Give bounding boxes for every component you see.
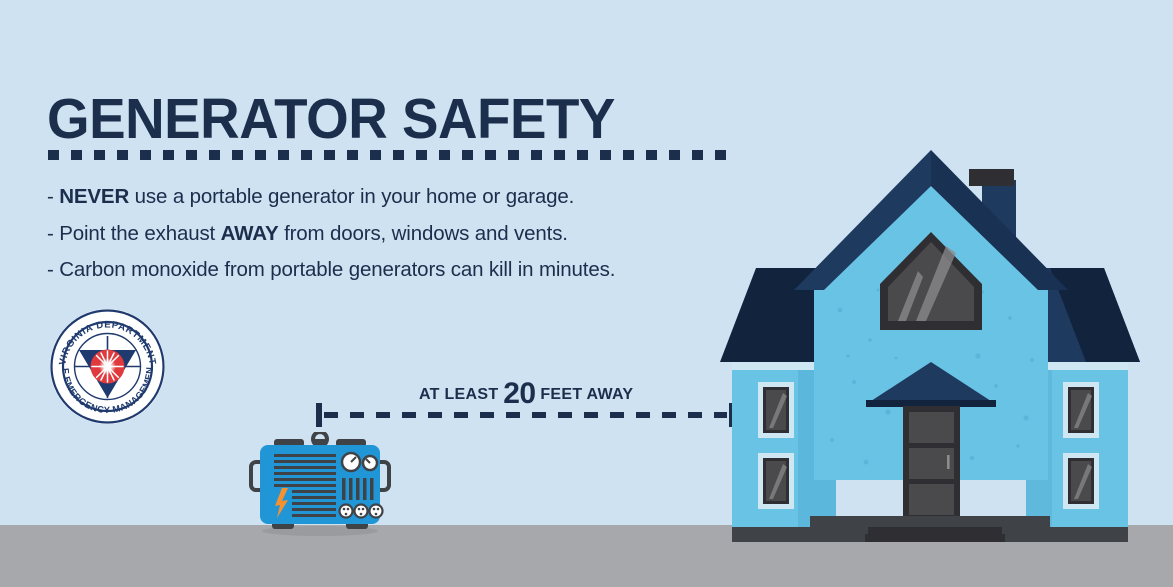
- window-right-upper: [1063, 382, 1099, 438]
- door-handle: [947, 455, 950, 469]
- generator-lift-ring: [313, 432, 327, 447]
- bullet-1-prefix: -: [47, 185, 59, 208]
- generator-gauge-large: [342, 453, 360, 471]
- bullet-1-rest: use a portable generator in your home or…: [129, 185, 574, 208]
- front-door[interactable]: [903, 406, 960, 521]
- list-item: - Carbon monoxide from portable generato…: [47, 252, 767, 289]
- portable-generator-illustration: [246, 432, 394, 537]
- window-left-upper: [758, 382, 794, 438]
- door-awning-edge: [866, 400, 996, 407]
- bullet-2-prefix: - Point the exhaust: [47, 222, 221, 245]
- window-left-lower: [758, 453, 794, 509]
- house-step-bottom: [865, 534, 1005, 542]
- chimney-cap: [969, 169, 1014, 186]
- window-right-lower: [1063, 453, 1099, 509]
- page-title: GENERATOR SAFETY: [47, 88, 615, 150]
- dimension-dashed-bar: [324, 412, 727, 418]
- list-item: - Point the exhaust AWAY from doors, win…: [47, 216, 767, 253]
- vdem-seal-logo: VIRGINIA DEPARTMENT OF EMERGENCY MANAGEM…: [47, 306, 168, 427]
- door-panel-top: [909, 412, 954, 443]
- title-dashed-divider: [48, 150, 731, 160]
- generator-gauge-small: [363, 456, 377, 470]
- bullet-2-emphasis: AWAY: [221, 222, 279, 245]
- door-panel-bottom: [909, 484, 954, 515]
- house-illustration: [720, 150, 1173, 542]
- distance-prefix: AT LEAST: [419, 386, 498, 403]
- dimension-cap-left: [316, 403, 322, 427]
- bullet-2-rest: from doors, windows and vents.: [279, 222, 568, 245]
- generator-outlets: [340, 505, 383, 518]
- distance-dimension-line: [316, 403, 735, 427]
- bullet-1-emphasis: NEVER: [59, 185, 129, 208]
- infographic-poster: GENERATOR SAFETY - NEVER use a portable …: [0, 0, 1173, 587]
- bullet-3-prefix: - Carbon monoxide from portable generato…: [47, 258, 615, 281]
- distance-suffix: FEET AWAY: [540, 386, 633, 403]
- house-step-top: [810, 516, 1050, 528]
- safety-tips-list: - NEVER use a portable generator in your…: [47, 179, 767, 289]
- list-item: - NEVER use a portable generator in your…: [47, 179, 767, 216]
